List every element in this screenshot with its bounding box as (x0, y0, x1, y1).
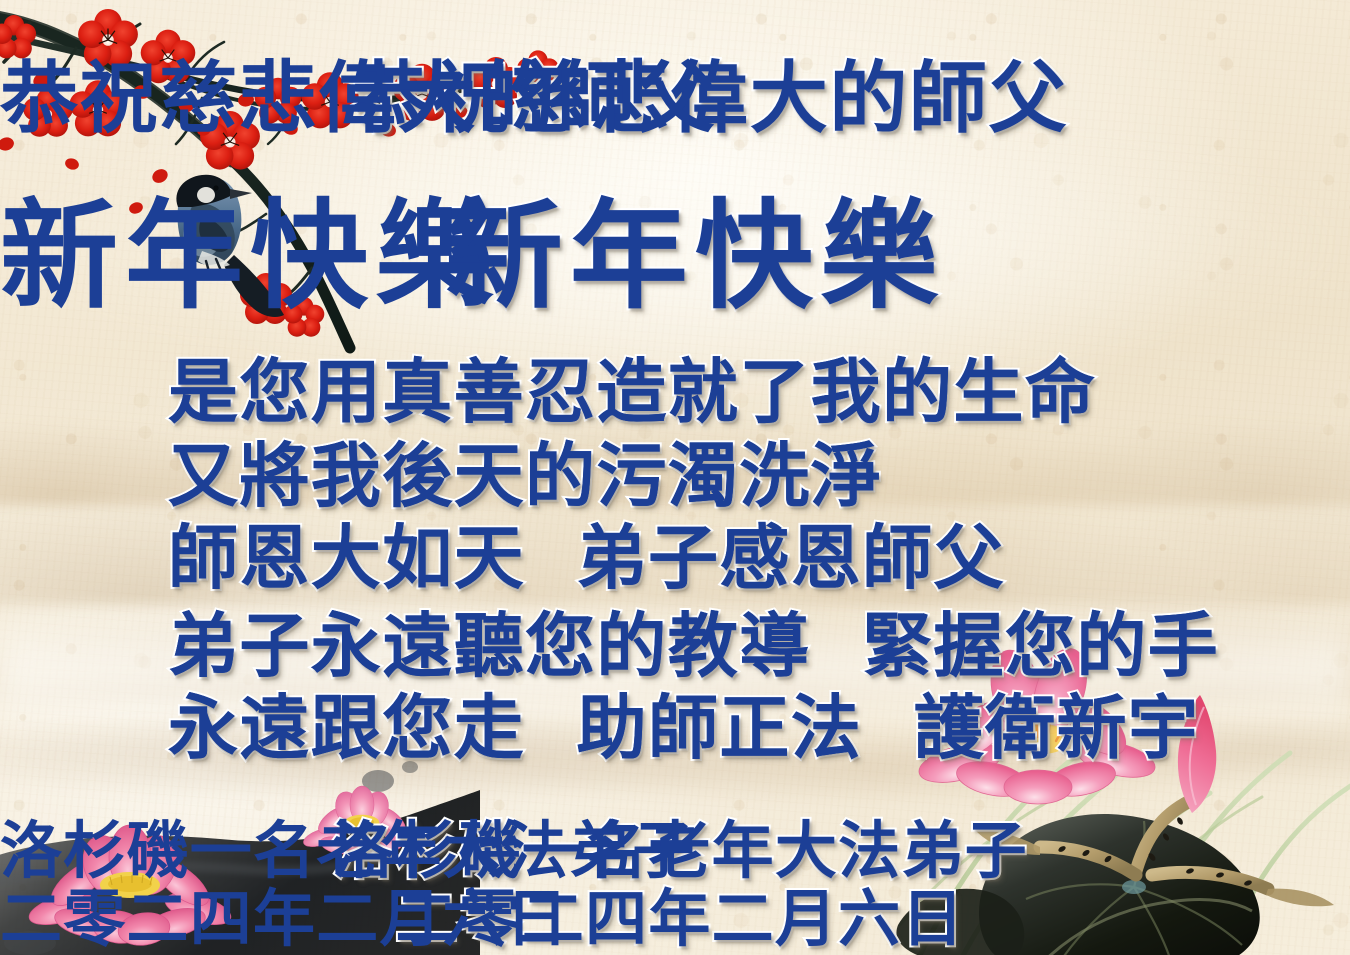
card-text: 恭祝慈悲偉大的師父 新年快樂 是您用真善忍造就了我的生命 又將我後天的污濁洗淨 … (0, 0, 1350, 955)
new-year-line: 新年快樂 (0, 160, 1350, 331)
signature-date: 二零二四年二月六日 (0, 868, 1350, 955)
poem-line-5: 永遠跟您走 助師正法 護衛新宇 (168, 672, 1199, 773)
poem-line-3: 師恩大如天 弟子感恩師父 (168, 502, 1005, 603)
greeting-card: 恭祝慈悲偉大的師父 新年快樂 是您用真善忍造就了我的生命 又將我後天的污濁洗淨 … (0, 0, 1350, 955)
greeting-line: 恭祝慈悲偉大的師父 (0, 36, 1350, 148)
